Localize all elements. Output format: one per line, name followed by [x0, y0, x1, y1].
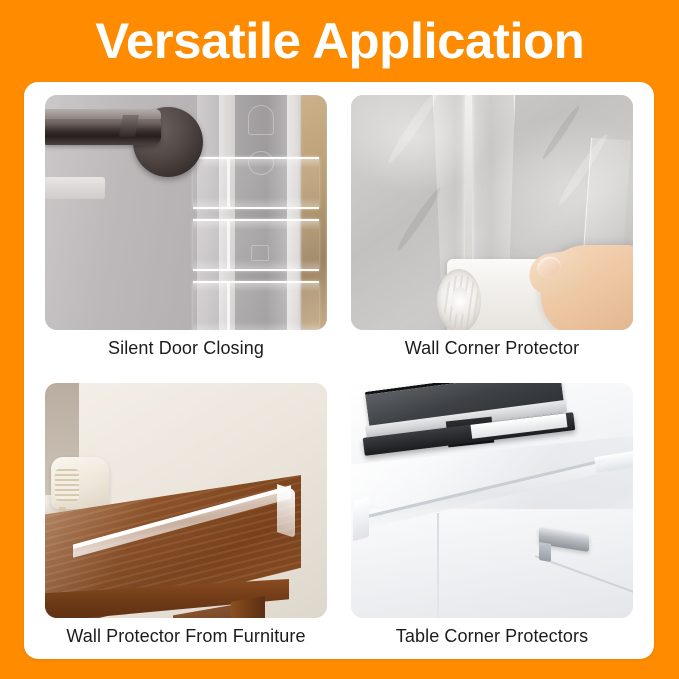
page-title: Versatile Application — [95, 16, 584, 66]
door-trim — [45, 177, 105, 199]
panel-caption: Wall Corner Protector — [405, 338, 579, 359]
photo-table-corner-protectors — [351, 383, 633, 618]
wall-corner-edge — [465, 95, 472, 277]
cabinet-front-face — [351, 509, 633, 618]
door-handle-lever-highlight — [45, 109, 161, 119]
tape-roll-core — [451, 287, 469, 315]
photo-wall-corner-protector — [351, 95, 633, 330]
speaker-grill — [55, 469, 79, 501]
panel-caption: Wall Protector From Furniture — [66, 626, 305, 647]
photo-wall-protector-from-furniture — [45, 383, 327, 618]
panel-silent-door-closing[interactable]: Silent Door Closing — [45, 95, 327, 359]
clear-film-far — [583, 138, 631, 257]
panel-caption: Table Corner Protectors — [396, 626, 588, 647]
corner-bumper-strip — [193, 281, 319, 330]
content-card: Silent Door Closing — [24, 82, 654, 659]
panel-caption: Silent Door Closing — [108, 338, 264, 359]
cabinet-seam-vertical — [437, 513, 439, 618]
clear-corner-protector — [353, 497, 369, 542]
photo-silent-door-closing — [45, 95, 327, 330]
clear-edge-strip-corner — [277, 484, 295, 538]
panel-wall-protector-from-furniture[interactable]: Wall Protector From Furniture — [45, 383, 327, 647]
panel-table-corner-protectors[interactable]: Table Corner Protectors — [351, 383, 633, 647]
door-handle-lever — [45, 115, 161, 145]
frame-plate-upper — [248, 105, 274, 135]
panel-wall-corner-protector[interactable]: Wall Corner Protector — [351, 95, 633, 359]
header-banner: Versatile Application — [0, 0, 679, 82]
corner-bumper-strip — [193, 157, 319, 209]
corner-bumper-strip — [193, 219, 319, 271]
panel-grid: Silent Door Closing — [45, 95, 633, 647]
drawer-handle-mount — [539, 542, 551, 562]
